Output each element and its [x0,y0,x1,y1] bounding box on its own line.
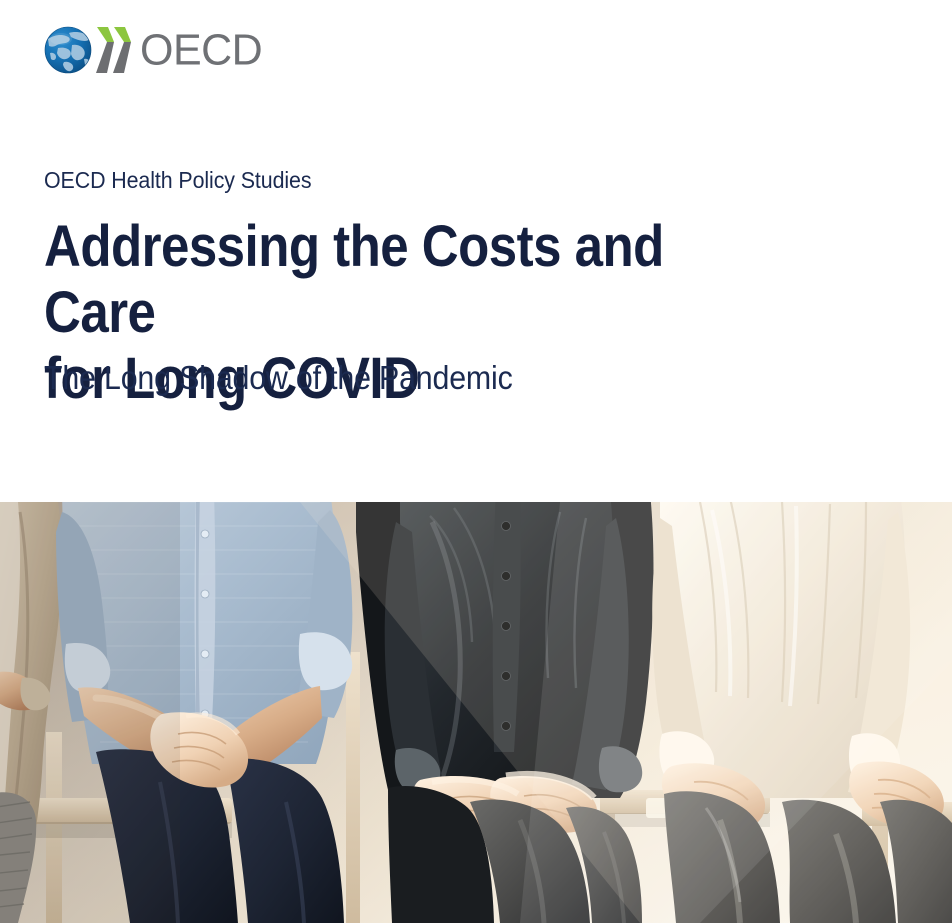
oecd-wordmark: OECD [140,28,262,72]
page-subtitle: The Long Shadow of the Pandemic [44,357,513,399]
globe-icon [44,26,92,74]
double-chevron-icon [94,26,136,74]
oecd-logo: OECD [44,25,262,75]
waiting-room-photo [0,502,952,923]
cover-header-band: OECD OECD Health Policy Studies Addressi… [0,0,952,502]
oecd-report-cover: OECD OECD Health Policy Studies Addressi… [0,0,952,923]
series-label: OECD Health Policy Studies [44,166,311,194]
